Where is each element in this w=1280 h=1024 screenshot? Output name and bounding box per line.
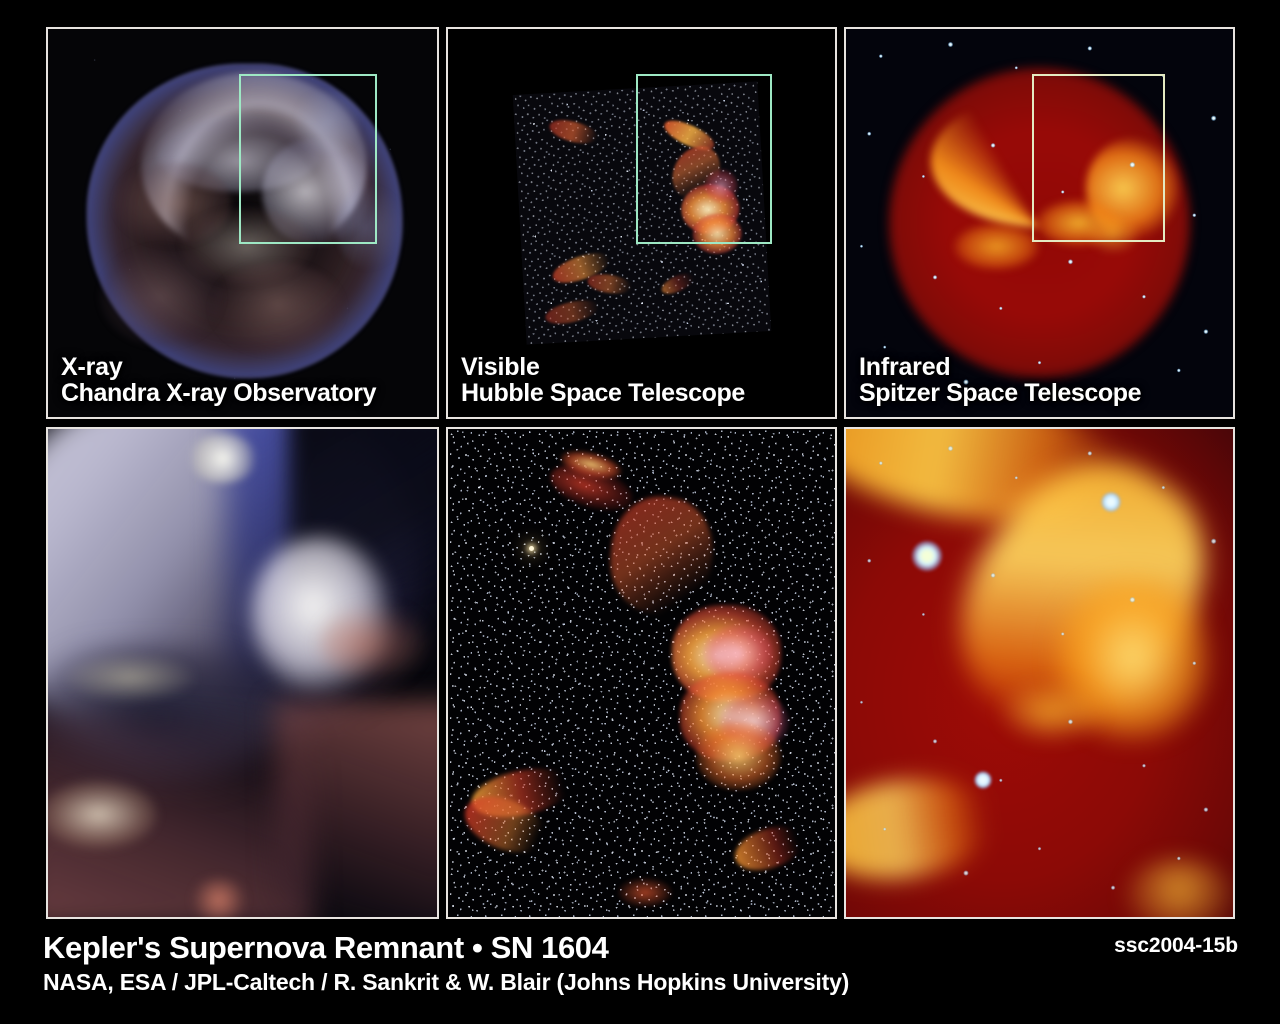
panel-visible-image: Visible Hubble Space Telescope [448, 29, 835, 417]
panel-infrared-image: Infrared Spitzer Space Telescope [846, 29, 1233, 417]
visible-inset-selection-box[interactable] [636, 74, 772, 245]
release-id: ssc2004-15b [1114, 934, 1238, 958]
caption-block: Kepler's Supernova Remnant • SN 1604 NAS… [0, 919, 1280, 1024]
panel-visible[interactable]: Visible Hubble Space Telescope [446, 27, 837, 419]
panel-xray[interactable]: X-ray Chandra X-ray Observatory [46, 27, 439, 419]
xray-inset-selection-box[interactable] [239, 74, 377, 245]
credit-line: NASA, ESA / JPL-Caltech / R. Sankrit & W… [43, 969, 849, 996]
panel-infrared[interactable]: Infrared Spitzer Space Telescope [844, 27, 1235, 419]
page-title: Kepler's Supernova Remnant • SN 1604 [43, 930, 608, 966]
xray-detail-filament [64, 653, 196, 702]
infrared-detail-blue-starfield [846, 429, 1233, 917]
xray-detail-red-region [274, 702, 437, 917]
xray-detail-filament [320, 605, 429, 683]
panel-infrared-detail-image [846, 429, 1233, 917]
panel-visible-detail-image [448, 429, 835, 917]
xray-detail-filament [48, 780, 157, 848]
xray-knot [99, 246, 223, 347]
panel-infrared-detail[interactable] [844, 427, 1235, 919]
panel-xray-image: X-ray Chandra X-ray Observatory [48, 29, 437, 417]
panel-xray-detail-image [48, 429, 437, 917]
xray-knot [211, 262, 343, 355]
panel-visible-detail[interactable] [446, 427, 837, 919]
panel-xray-detail[interactable] [46, 427, 439, 919]
xray-detail-knot [188, 878, 250, 917]
infrared-inset-selection-box[interactable] [1032, 74, 1166, 243]
visible-detail-bright-knot [696, 722, 781, 790]
xray-detail-knot [188, 434, 258, 483]
